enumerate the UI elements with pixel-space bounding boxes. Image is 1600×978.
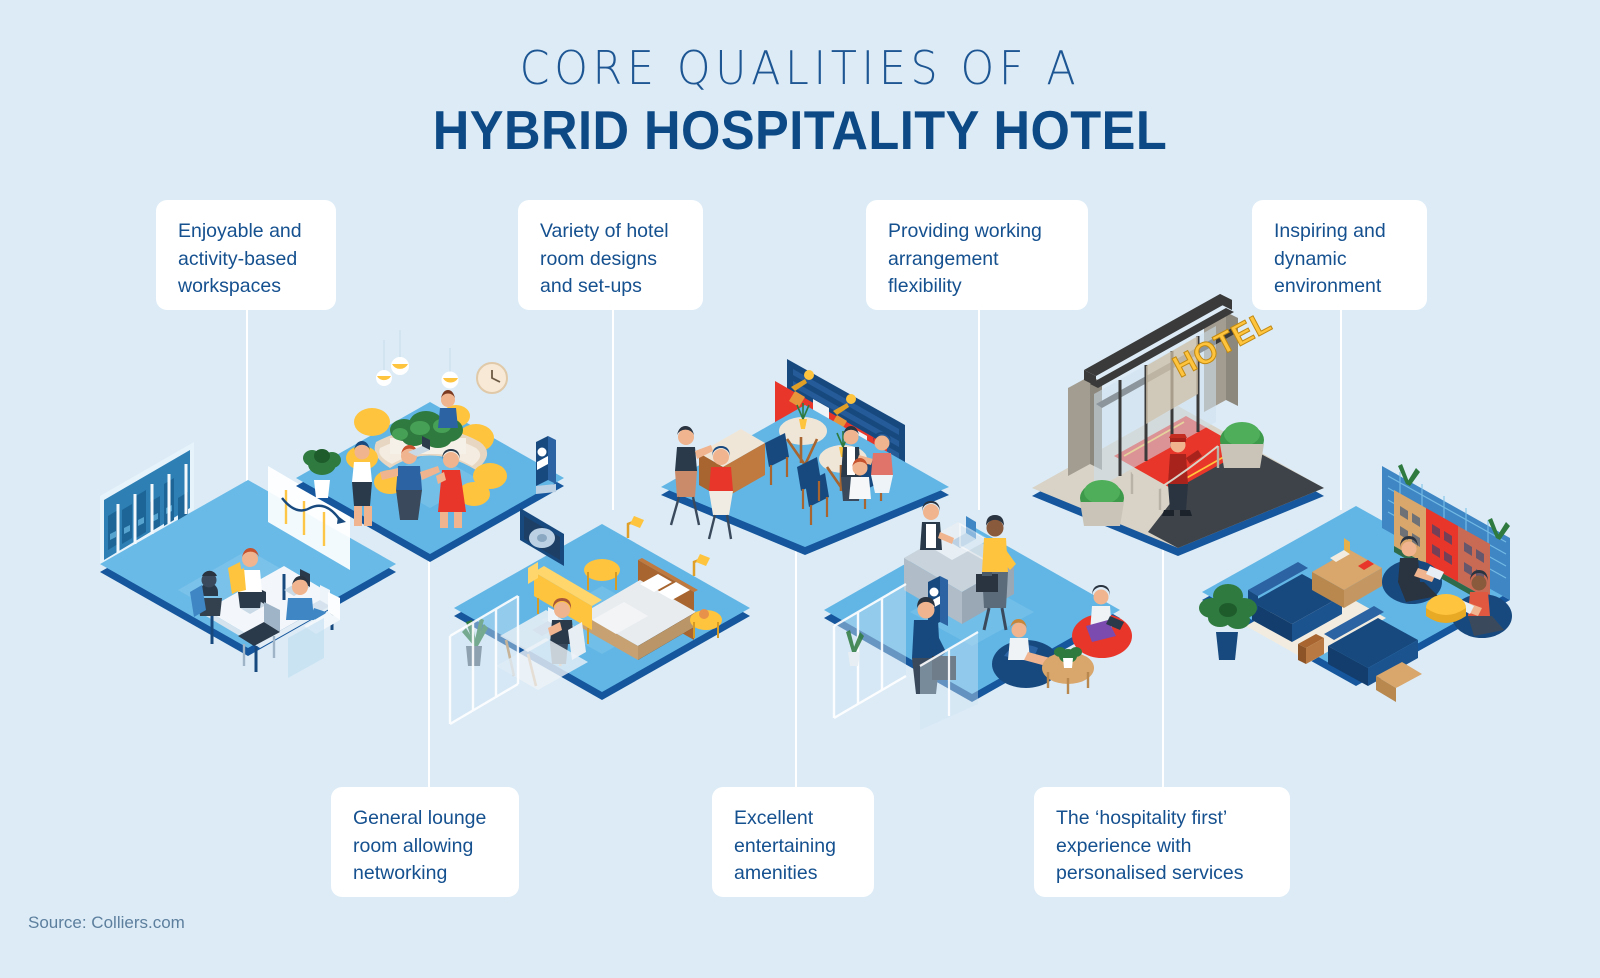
callout-card-top-3[interactable]: Providing working arrangement flexibilit… [866, 200, 1088, 310]
callout-text: The ‘hospitality first’ experience with … [1056, 805, 1270, 888]
callout-text: Inspiring and dynamic environment [1274, 218, 1407, 301]
infographic-canvas: CORE QUALITIES OF A HYBRID HOSPITALITY H… [0, 0, 1600, 978]
callout-text: Providing working arrangement flexibilit… [888, 218, 1068, 301]
title-line-1: CORE QUALITIES OF A [56, 42, 1544, 95]
page-title: CORE QUALITIES OF A HYBRID HOSPITALITY H… [0, 42, 1600, 163]
callout-text: Enjoyable and activity-based workspaces [178, 218, 316, 301]
title-line-2: HYBRID HOSPITALITY HOTEL [64, 97, 1536, 163]
callout-card-top-1[interactable]: Enjoyable and activity-based workspaces [156, 200, 336, 310]
scene-social-lounge [1190, 450, 1520, 710]
callout-text: Variety of hotel room designs and set-up… [540, 218, 683, 301]
callout-text: Excellent entertaining amenities [734, 805, 854, 888]
callout-card-bottom-2[interactable]: Excellent entertaining amenities [712, 787, 874, 897]
callout-card-top-2[interactable]: Variety of hotel room designs and set-up… [518, 200, 703, 310]
callout-card-bottom-3[interactable]: The ‘hospitality first’ experience with … [1034, 787, 1290, 897]
callout-card-top-4[interactable]: Inspiring and dynamic environment [1252, 200, 1427, 310]
callout-card-bottom-1[interactable]: General lounge room allowing networking [331, 787, 519, 897]
callout-text: General lounge room allowing networking [353, 805, 499, 888]
source-label: Source: Colliers.com [28, 913, 185, 933]
